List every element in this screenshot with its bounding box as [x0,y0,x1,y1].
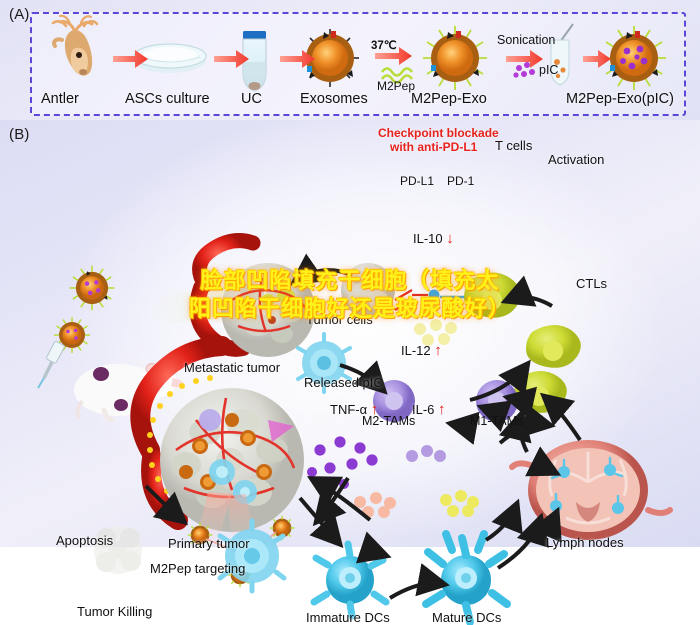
step-label-antler: Antler [41,91,79,107]
label-tumor-killing: Tumor Killing [77,604,152,619]
m2pep-exo-particle-icon [423,26,487,90]
label-t-cells: T cells [495,138,532,153]
m2pep-exo-pic-particle-icon [602,26,666,90]
label-pd-1: PD-1 [447,174,474,188]
label-tumor-cells: Tumor cells [306,312,373,327]
t-cell-icon [464,272,521,317]
il-12-cytokine-dots-icon [406,445,446,462]
ctl-cell-icon [514,371,567,413]
label-il-12: IL-12 ↑ [401,342,442,359]
panel-b: (B) [0,120,700,547]
step-label-exosomes: Exosomes [300,91,368,107]
label-lymph-nodes: Lymph nodes [546,535,624,550]
label-checkpoint-blockade-line1: Checkpoint blockade [378,126,499,140]
lymph-node-icon [512,440,670,540]
label-ctls: CTLs [576,276,607,291]
figure-root: (A) [0,0,700,547]
syringe-icon [38,341,65,388]
il-10-down-arrow: ↓ [446,230,454,247]
label-immature-dcs: Immature DCs [306,610,390,625]
il-6-up-arrow: ↑ [438,401,446,418]
annotation-temperature: 37℃ [371,38,397,52]
label-primary-tumor: Primary tumor [168,536,250,551]
label-checkpoint-blockade-line2: with anti-PD-L1 [390,140,477,154]
label-il-12-text: IL-12 [401,343,431,358]
step-label-uc: UC [241,91,262,107]
mature-dc-icon [426,534,507,622]
pd-l1-pd-1-interaction-icon: × [395,290,470,312]
label-mature-dcs: Mature DCs [432,610,501,625]
step-label-m2pep-exo-pic: M2Pep-Exo(pIC) [566,91,674,107]
label-apoptosis: Apoptosis [56,533,113,548]
annotation-sonication: Sonication [497,33,555,47]
label-il-6: IL-6 ↑ [412,401,446,418]
label-released-pic: Released pIC [304,375,383,390]
step-label-m2pep-exo: M2Pep-Exo [411,91,487,107]
il-12-up-arrow: ↑ [434,342,442,359]
il-6-cytokine-dots-icon [440,490,479,517]
label-metastatic-tumor: Metastatic tumor [184,360,280,375]
label-tnf-alpha-text: TNF-α [330,402,367,417]
label-il-6-text: IL-6 [412,402,434,417]
annotation-m2pep: M2Pep [377,79,415,93]
svg-text:×: × [443,301,448,311]
uc-tube-icon [243,31,266,91]
antler-deer-icon [53,16,97,76]
ctl-cell-icon [526,325,581,368]
label-il-10-text: IL-10 [413,231,443,246]
tumor-cells-icon [341,263,395,317]
tnf-alpha-up-arrow: ↑ [371,401,379,418]
annotation-pic: pIC [539,63,558,77]
step-label-ascs-culture: ASCs culture [125,91,210,107]
exosome-nanoparticle-icon [70,266,115,311]
primary-tumor-icon [140,346,304,548]
label-m2pep-targeting: M2Pep targeting [150,561,245,576]
label-il-10: IL-10 ↓ [413,230,454,247]
label-tnf-alpha: TNF-α ↑ [330,401,378,418]
immature-dc-icon [314,544,386,616]
panel-a: (A) [0,0,700,120]
label-activation: Activation [548,152,604,167]
label-pd-l1: PD-L1 [400,174,434,188]
panel-b-artwork: × [0,120,700,547]
label-m1-tams-text: M1-TAMs [470,414,523,428]
